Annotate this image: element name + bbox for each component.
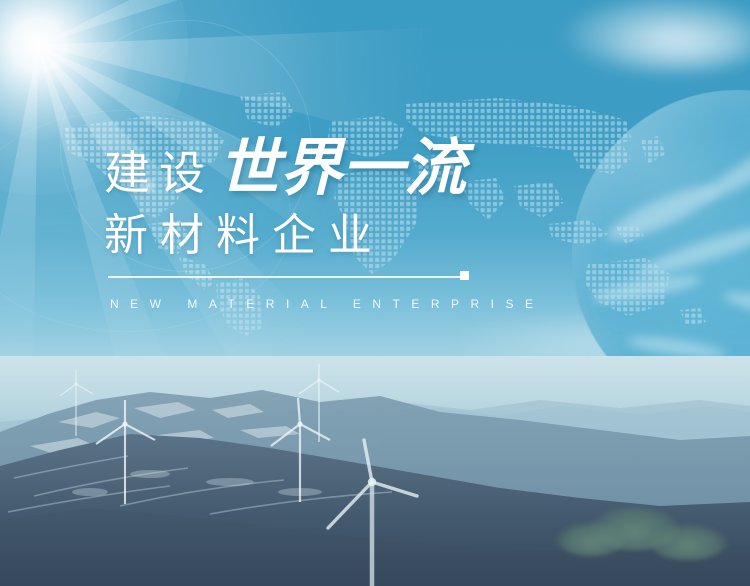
- lens-flare-dot: [140, 178, 156, 194]
- foliage: [648, 524, 728, 560]
- wind-turbine-icon: [92, 400, 158, 504]
- wind-turbine-icon: [56, 370, 96, 436]
- wind-turbine-icon: [322, 438, 422, 586]
- landscape-scene: [0, 356, 750, 586]
- hero-banner: 建设 世界一流 新材料企业 NEW MATERIAL ENTERPRISE: [0, 0, 750, 586]
- foliage: [556, 522, 626, 556]
- cloud-icon: [600, 10, 750, 80]
